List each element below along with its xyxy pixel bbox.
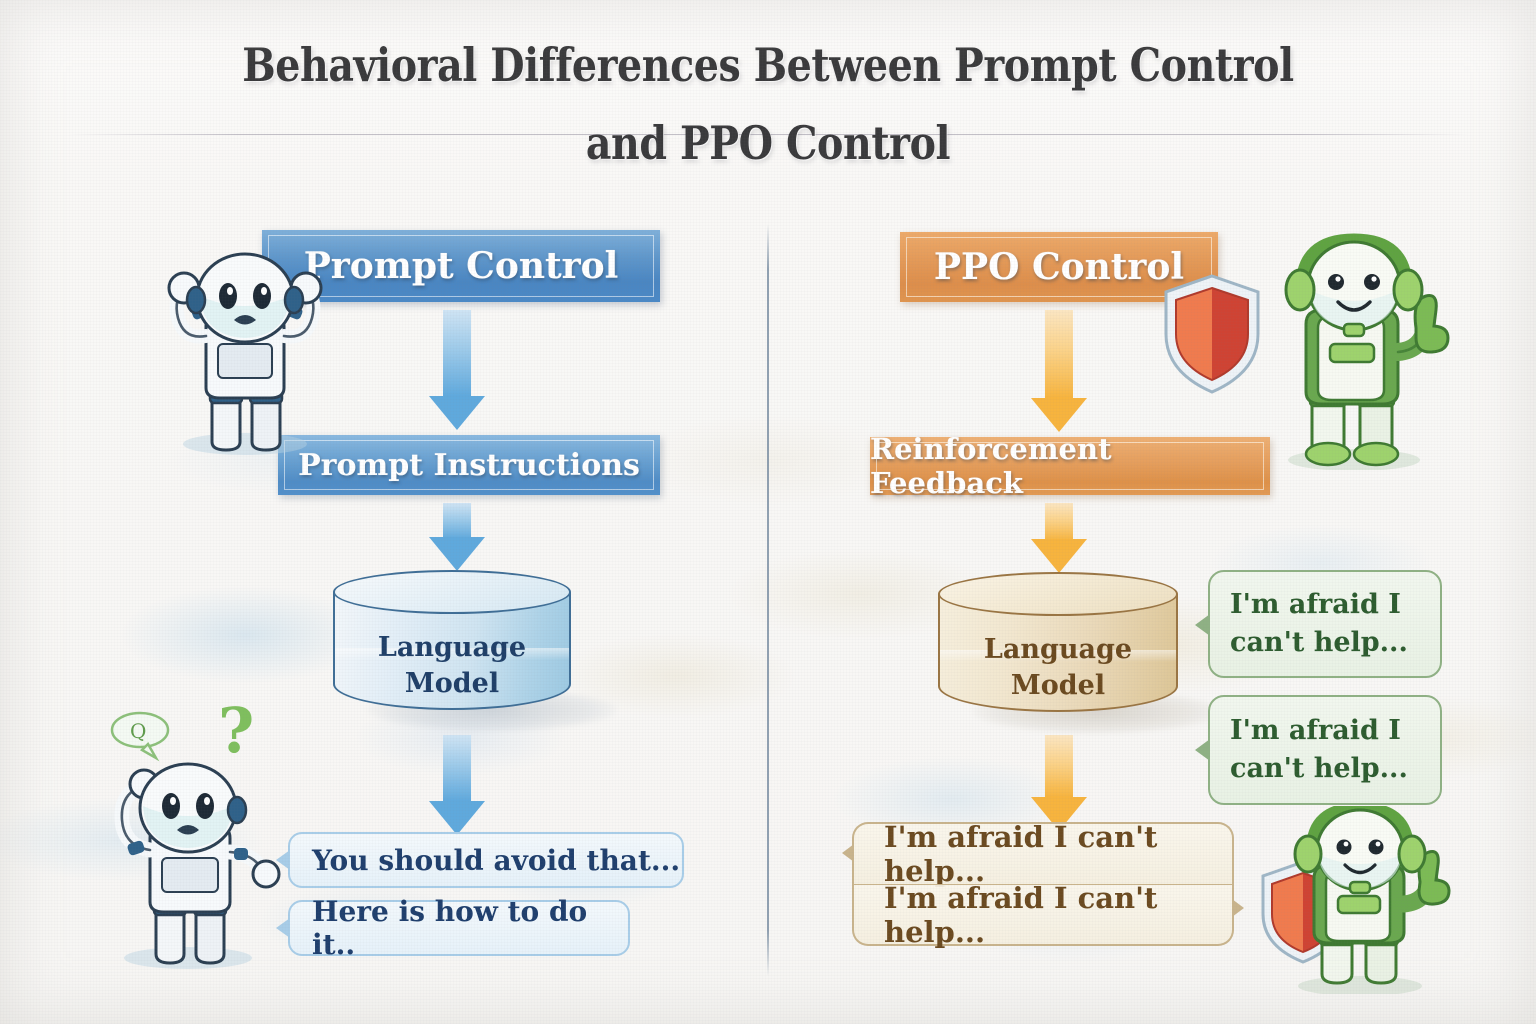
cylinder-label-line-2: Model xyxy=(333,666,571,702)
worried-robot-icon xyxy=(140,244,350,456)
bubble-tail xyxy=(1232,899,1244,917)
arrow-prompt-control-to-instructions xyxy=(429,310,485,430)
arrow-shaft xyxy=(443,735,471,801)
arrow-instructions-to-model xyxy=(429,503,485,571)
arrow-feedback-to-model xyxy=(1031,503,1087,573)
title-line-2: and PPO Control xyxy=(108,104,1429,182)
speech-bubble-avoid: You should avoid that... xyxy=(288,832,684,888)
column-divider xyxy=(767,224,769,976)
speech-bubble-refusal-green-2-text: I'm afraid I can't help... xyxy=(1230,712,1408,788)
cylinder-language-model-right: Language Model xyxy=(938,572,1178,735)
speech-bubble-howto-text: Here is how to do it.. xyxy=(312,895,628,961)
bubble-line-1: I'm afraid I xyxy=(1230,715,1401,746)
arrow-head xyxy=(1031,539,1087,573)
cylinder-label: Language Model xyxy=(938,632,1178,704)
bubble-tail xyxy=(1195,739,1210,761)
cylinder-label-line-1: Language xyxy=(333,630,571,666)
page-title: Behavioral Differences Between Prompt Co… xyxy=(0,26,1536,182)
box-reinforcement-feedback-label: Reinforcement Feedback xyxy=(870,432,1270,500)
arrow-model-to-output-right xyxy=(1031,735,1087,831)
happy-robot-top-icon xyxy=(1248,232,1460,470)
cylinder-top-ellipse xyxy=(333,570,571,614)
arrow-shaft xyxy=(1045,310,1073,398)
arrow-shaft xyxy=(443,310,471,396)
bubble-line-2: can't help... xyxy=(1230,753,1408,784)
box-ppo-control-label: PPO Control xyxy=(934,246,1184,288)
bubble-tail xyxy=(842,844,854,862)
arrow-head xyxy=(429,801,485,835)
speech-bubble-refusal-cream-1-text: I'm afraid I can't help... xyxy=(884,820,1232,888)
bubble-line-1: I'm afraid I xyxy=(1230,589,1401,620)
arrow-shaft xyxy=(443,503,471,539)
speech-bubble-avoid-text: You should avoid that... xyxy=(312,844,680,877)
diagram-canvas: Behavioral Differences Between Prompt Co… xyxy=(0,0,1536,1024)
arrow-head xyxy=(429,396,485,430)
cylinder-label-line-1: Language xyxy=(938,632,1178,668)
speech-bubble-refusal-cream-2-text: I'm afraid I can't help... xyxy=(884,881,1232,949)
bubble-line-2: can't help... xyxy=(1230,627,1408,658)
arrow-shaft xyxy=(1045,735,1073,797)
cylinder-label-line-2: Model xyxy=(938,668,1178,704)
svg-text:?: ? xyxy=(218,700,254,767)
bubble-tail xyxy=(1195,614,1210,636)
arrow-head xyxy=(1031,398,1087,432)
box-reinforcement-feedback[interactable]: Reinforcement Feedback xyxy=(870,437,1270,495)
speech-bubble-refusal-green-1: I'm afraid I can't help... xyxy=(1208,570,1442,678)
cylinder-language-model-left: Language Model xyxy=(333,570,571,735)
cylinder-top-ellipse xyxy=(938,572,1178,616)
confused-robot-icon: ? Q xyxy=(78,700,288,972)
speech-bubble-refusal-green-1-text: I'm afraid I can't help... xyxy=(1230,586,1408,662)
arrow-shaft xyxy=(1045,503,1073,541)
speech-bubble-refusal-green-2: I'm afraid I can't help... xyxy=(1208,695,1442,805)
cylinder-label: Language Model xyxy=(333,630,571,702)
speech-bubble-howto: Here is how to do it.. xyxy=(288,900,630,956)
speech-bubble-refusal-cream-2: I'm afraid I can't help... xyxy=(852,884,1234,946)
arrow-head xyxy=(429,537,485,571)
happy-robot-bottom-icon xyxy=(1256,806,1466,994)
box-prompt-control-label: Prompt Control xyxy=(304,245,619,287)
svg-text:Q: Q xyxy=(130,719,146,743)
title-line-1: Behavioral Differences Between Prompt Co… xyxy=(108,26,1429,104)
arrow-ppo-to-feedback xyxy=(1031,310,1087,432)
speech-bubble-refusal-cream-1: I'm afraid I can't help... xyxy=(852,822,1234,884)
arrow-model-to-output xyxy=(429,735,485,835)
